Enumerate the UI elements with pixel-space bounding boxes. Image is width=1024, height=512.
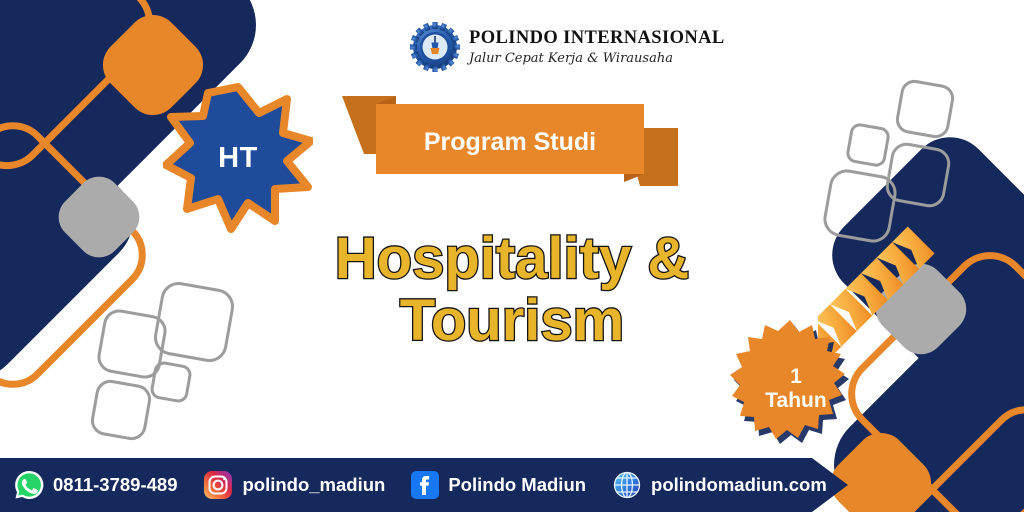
decor-gray-outline-square-3	[149, 360, 193, 404]
headline-line-1: Hospitality &	[0, 228, 1024, 290]
instagram-icon	[203, 470, 233, 500]
contact-whatsapp-label: 0811-3789-489	[53, 474, 177, 496]
duration-number: 1	[790, 365, 802, 389]
duration-unit: Tahun	[765, 389, 826, 413]
contact-website-label: polindomadiun.com	[651, 474, 827, 496]
polindo-gear-emblem-icon	[410, 22, 460, 72]
promo-banner: POLINDO INTERNASIONAL Jalur Cepat Kerja …	[0, 0, 1024, 512]
facebook-icon	[411, 471, 439, 499]
ribbon-label: Program Studi	[340, 92, 680, 192]
contact-facebook[interactable]: Polindo Madiun	[411, 471, 586, 499]
contact-website[interactable]: polindomadiun.com	[612, 470, 827, 500]
brand-name: POLINDO INTERNASIONAL	[469, 29, 725, 48]
decor-gray-outline-square-5	[894, 78, 957, 141]
decor-gray-outline-square-4	[89, 378, 154, 443]
globe-icon	[612, 470, 642, 500]
contact-whatsapp[interactable]: 0811-3789-489	[14, 470, 177, 500]
footer-contact-list: 0811-3789-489 polindo_madiun	[0, 458, 850, 512]
contact-facebook-label: Polindo Madiun	[448, 474, 586, 496]
contact-instagram[interactable]: polindo_madiun	[203, 470, 385, 500]
program-code-label: HT	[163, 83, 313, 233]
decor-gray-outline-square-6	[845, 122, 891, 168]
brand-logo: POLINDO INTERNASIONAL Jalur Cepat Kerja …	[410, 22, 725, 72]
brand-tagline: Jalur Cepat Kerja & Wirausaha	[469, 52, 725, 65]
contact-instagram-label: polindo_madiun	[242, 474, 385, 496]
headline-line-2: Tourism	[0, 290, 1024, 352]
whatsapp-icon	[14, 470, 44, 500]
duration-label: 1 Tahun	[722, 318, 870, 460]
page-title: Hospitality & Tourism	[0, 228, 1024, 352]
